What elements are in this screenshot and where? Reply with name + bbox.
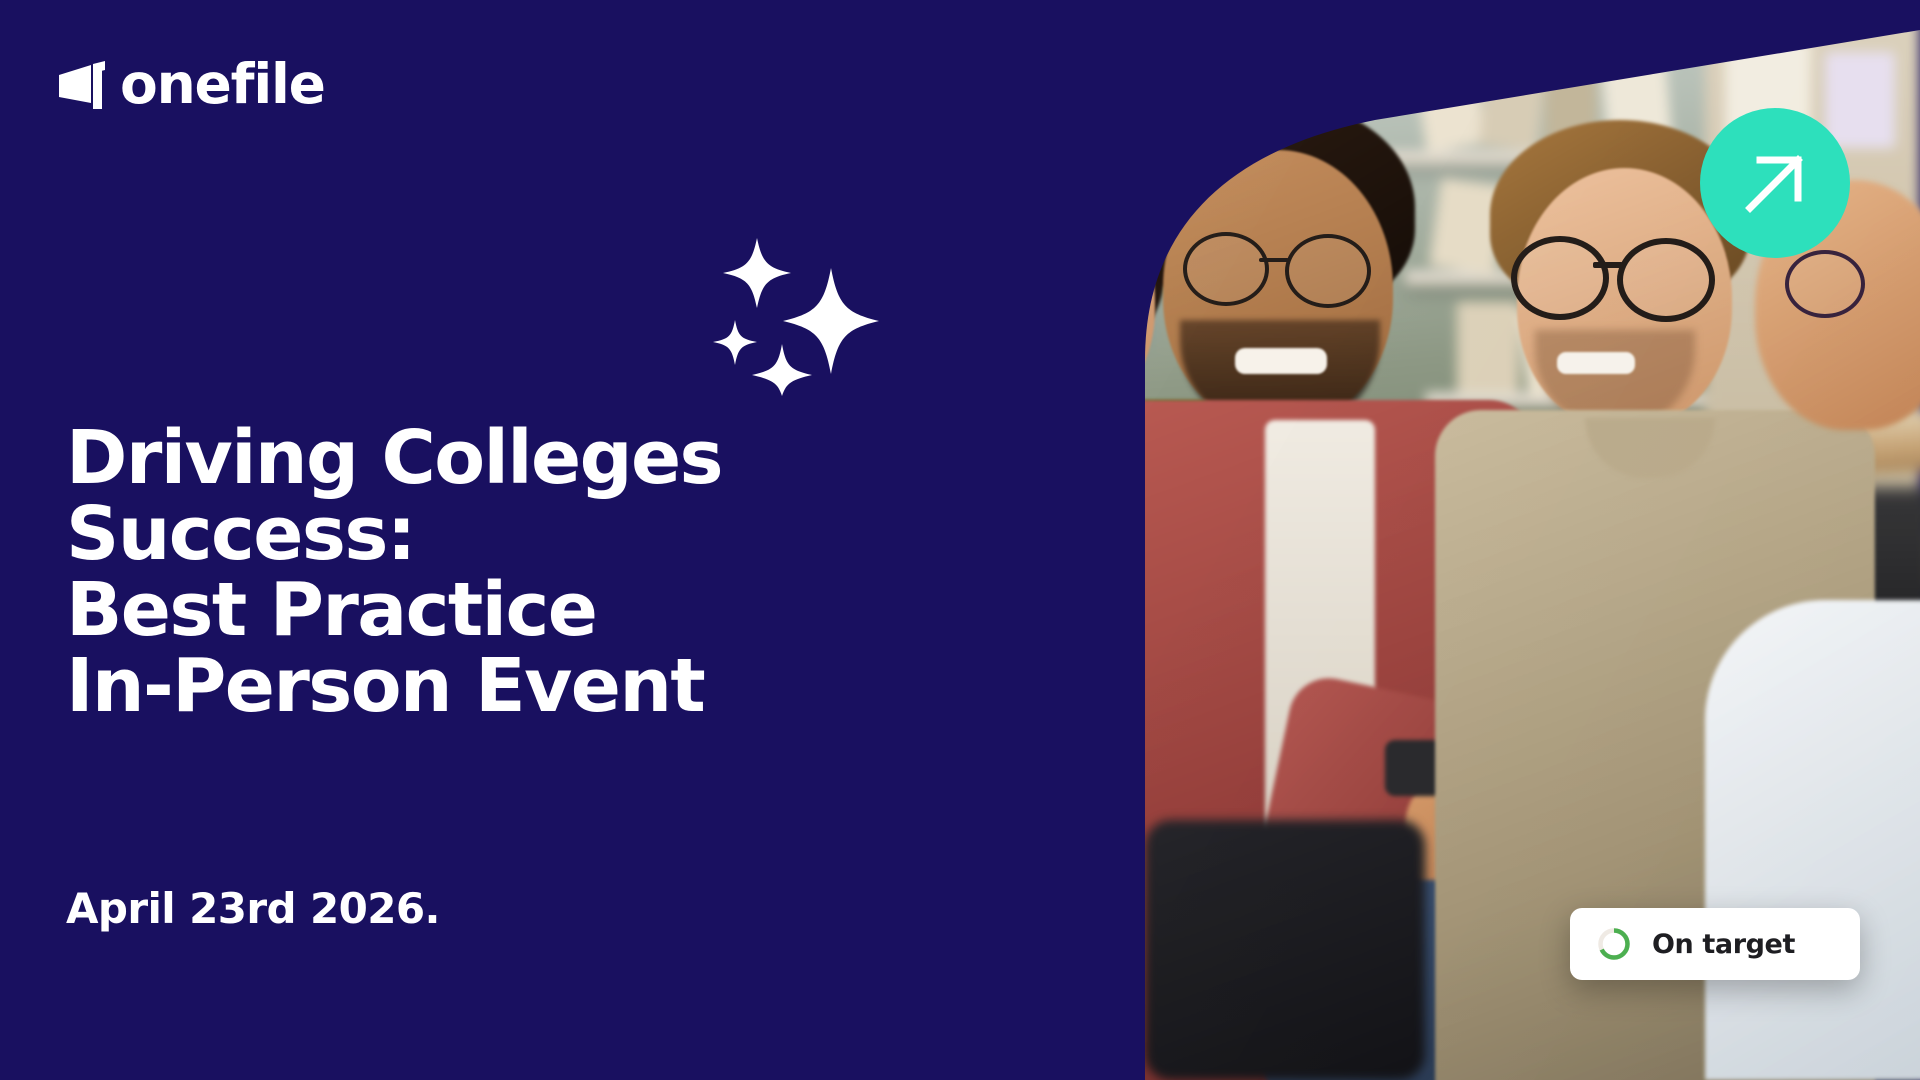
window-light — [1035, 40, 1145, 340]
sparkle-cluster-icon — [705, 232, 880, 397]
brand-name: onefile — [120, 57, 325, 112]
headline-line-4: In-Person Event — [66, 648, 786, 724]
headline-line-3: Best Practice — [66, 572, 786, 648]
flag-bookmark-icon — [55, 59, 111, 111]
shelf — [1365, 28, 1695, 44]
progress-ring-icon — [1596, 926, 1632, 962]
status-badge[interactable]: On target — [1570, 908, 1860, 980]
book — [1405, 0, 1449, 36]
banner-canvas: onefile Driving Colleges Success: Best P… — [0, 0, 1920, 1080]
smile — [1013, 300, 1029, 309]
event-date: April 23rd 2026. — [66, 884, 440, 933]
arrow-up-right-badge[interactable] — [1700, 108, 1850, 258]
status-badge-label: On target — [1652, 929, 1795, 960]
book — [1451, 0, 1489, 36]
headline-line-2: Success: — [66, 496, 786, 572]
page-title: Driving Colleges Success: Best Practice … — [66, 420, 786, 724]
brand-logo[interactable]: onefile — [55, 57, 325, 112]
book — [1493, 0, 1543, 36]
headline-line-1: Driving Colleges — [66, 420, 786, 496]
arrow-up-right-icon — [1736, 144, 1814, 222]
book — [1545, 0, 1585, 36]
